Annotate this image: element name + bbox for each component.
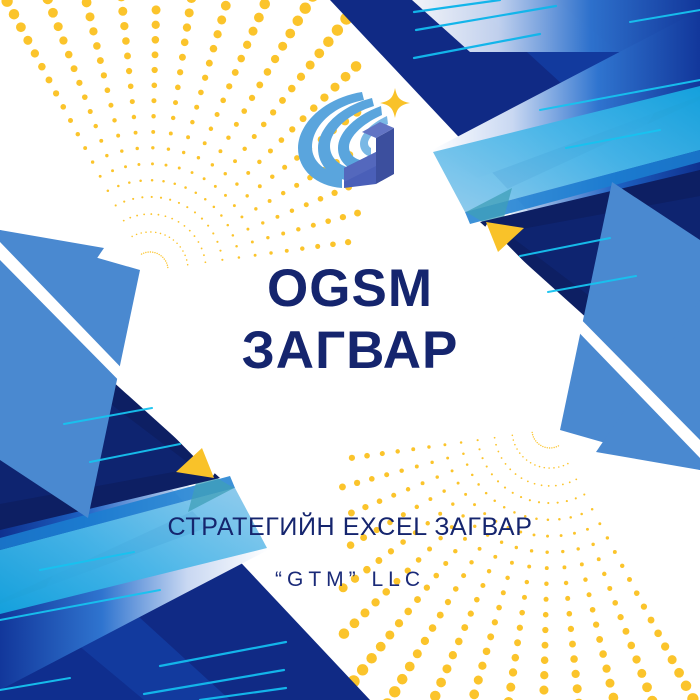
subtitle-text: СТРАТЕГИЙН EXCEL ЗАГВАР [0, 513, 700, 542]
cover-content: OGSM ЗАГВАР СТРАТЕГИЙН EXCEL ЗАГВАР “GTM… [0, 0, 700, 700]
subtitle-block: СТРАТЕГИЙН EXCEL ЗАГВАР “GTM” LLC [0, 513, 700, 592]
gtm-swoosh-logo [284, 82, 416, 194]
title-line-1: OGSM [0, 258, 700, 320]
title-line-2: ЗАГВАР [0, 320, 700, 382]
page-title: OGSM ЗАГВАР [0, 258, 700, 382]
company-name: “GTM” LLC [0, 568, 700, 592]
cover-slide: OGSM ЗАГВАР СТРАТЕГИЙН EXCEL ЗАГВАР “GTM… [0, 0, 700, 700]
